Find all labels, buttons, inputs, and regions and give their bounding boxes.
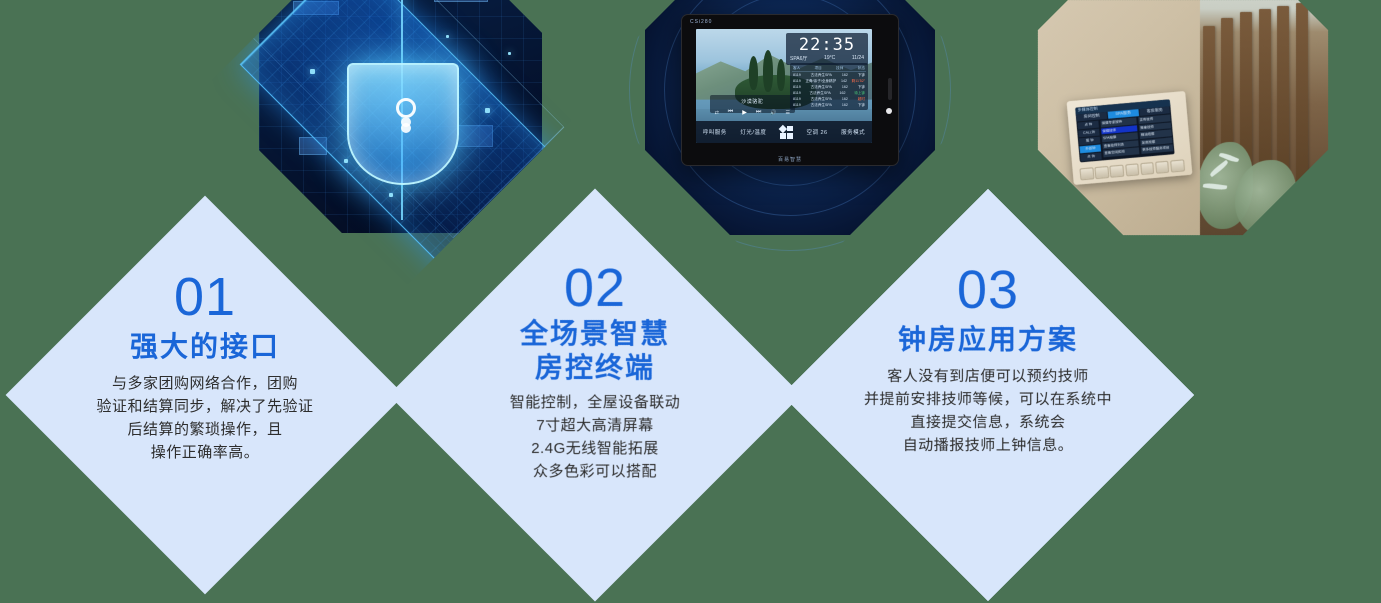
card-body-line: 智能控制，全屋设备联动 [510,391,681,414]
card-body-line: 众多色彩可以搭配 [510,460,681,483]
room-background [1195,0,1328,235]
card-title-3: 钟房应用方案 [898,323,1078,357]
card-body-line: 自动播报技师上钟信息。 [864,434,1112,457]
circuit-node [446,35,449,38]
card-number-1: 01 [174,268,236,326]
card-body-line: 2.4G无线智能拓展 [510,437,681,460]
volume-icon[interactable]: 🔊 [770,110,776,116]
tablet-side-button[interactable] [888,78,892,100]
panel-button[interactable] [1079,167,1094,181]
media-controls[interactable]: ⇄ ⏮ ▶ ⏭ 🔊 ☰ [710,109,794,116]
card-number-3: 03 [957,261,1019,319]
card-body-line: 操作正确率高。 [96,441,313,464]
service-list-header: 客人 项目 技师 状态 [792,65,866,72]
next-icon[interactable]: ⏭ [756,109,761,116]
card-body-line: 客人没有到店便可以预约技师 [864,365,1112,388]
col-item: 项目 [815,65,822,71]
wall-control-panel[interactable]: 多媒体控制 房间控制 SPA服务 客房服务 点 钟 CALL钟 圈 钟 外部钟 … [1066,91,1192,185]
wood-slat [1277,6,1289,180]
cell-status: 下钟 [858,102,865,108]
feature-card-2[interactable]: 02 全场景智慧 房控终端 智能控制，全屋设备联动 7寸超大高清屏幕 2.4G无… [389,189,802,602]
tablet-screen[interactable]: 沙漠骆驼 ⇄ ⏮ ▶ ⏭ 🔊 ☰ 22:35 SPA6 [696,29,872,143]
toolbar-service-mode[interactable]: 服务模式 [841,128,865,136]
wood-slat [1240,12,1252,169]
feature-card-3[interactable]: 03 钟房应用方案 客人没有到店便可以预约技师 并提前安排技师等候，可以在系统中… [782,189,1195,602]
circuit-node [389,193,393,197]
card-body-line: 后结算的繁琐操作，且 [96,418,313,441]
wood-slat [1296,3,1308,183]
panel-button[interactable] [1170,159,1185,173]
panel-side-menu[interactable]: 点 钟 CALL钟 圈 钟 外部钟 点 钟 [1077,119,1103,162]
tree-shape [777,59,785,91]
card-body-line: 与多家团购网络合作，团购 [96,372,313,395]
media-player-bar[interactable]: 沙漠骆驼 ⇄ ⏮ ▶ ⏭ 🔊 ☰ [710,95,794,113]
apps-grid-icon[interactable] [780,126,793,139]
media-title: 沙漠骆驼 [710,95,794,105]
card-title-2: 全场景智慧 房控终端 [520,317,670,385]
card-body-line: 并提前安排技师等候，可以在系统中 [864,388,1112,411]
shield-lock-icon [347,63,459,185]
device-brand-label: CSi280 [690,19,712,25]
prev-icon[interactable]: ⏮ [728,109,733,116]
cell-tech: 162 [842,102,848,108]
clock-room: SPA6厅 [790,55,807,62]
panel-button[interactable] [1110,164,1125,178]
service-list[interactable]: 客人 项目 技师 状态 8119 古法养生SPA 162 下钟 8119 [790,63,868,110]
tree-shape [749,56,758,90]
card-title-line: 钟房应用方案 [898,323,1078,357]
card-body-line: 验证和结算同步，解决了先验证 [96,395,313,418]
circuit-node [310,69,315,74]
card-body-1: 与多家团购网络合作，团购 验证和结算同步，解决了先验证 后结算的繁琐操作，且 操… [96,372,313,464]
infographic-stage: 蓝色科技电路板上的全息盾牌锁图形 CSi280 [0,0,1381,603]
tree-shape [763,50,773,92]
tablet-camera-dot [886,108,892,114]
clock-date: 11/24 [852,55,864,62]
toolbar-light-temp[interactable]: 灯光/温度 [740,128,766,136]
col-tech: 技师 [836,65,843,71]
card-title-line: 全场景智慧 [520,317,670,351]
panel-menu-right-column[interactable]: 正骨技师 推拿技师 精油按摩 足底按摩 更多技师服务项目 [1137,113,1175,157]
col-guest: 客人 [793,65,800,71]
panel-menu-left-column[interactable]: 保健专家按钟 保健技师 SPA按摩 查看技师列表 查看空闲房间 [1099,116,1140,160]
cell-item: 古法养生SPA [811,102,832,108]
playlist-icon[interactable]: ☰ [786,110,790,116]
card-body-line: 7寸超大高清屏幕 [510,414,681,437]
tablet-footer-brand: 百易智慧 [682,156,898,163]
panel-button[interactable] [1155,160,1170,174]
circuit-node [344,159,348,163]
service-list-row[interactable]: 8119 古法养生SPA 162 下钟 [792,102,866,108]
col-status: 状态 [858,65,865,71]
card-title-1: 强大的接口 [130,330,280,364]
circuit-node [485,108,490,113]
clock-widget: 22:35 SPA6厅 19°C 11/24 [786,33,868,65]
screen-toolbar[interactable]: 呼叫服务 灯光/温度 空调 26 服务模式 [696,121,872,143]
panel-button[interactable] [1140,162,1155,176]
card-body-2: 智能控制，全屋设备联动 7寸超大高清屏幕 2.4G无线智能拓展 众多色彩可以搭配 [510,391,681,483]
toolbar-aircon[interactable]: 空调 26 [806,128,827,136]
play-icon[interactable]: ▶ [742,109,747,116]
toolbar-call-service[interactable]: 呼叫服务 [703,128,727,136]
shuffle-icon[interactable]: ⇄ [715,110,719,116]
room-control-tablet: CSi280 沙漠骆驼 ⇄ [681,14,899,166]
panel-screen[interactable]: 多媒体控制 房间控制 SPA服务 客房服务 点 钟 CALL钟 圈 钟 外部钟 … [1075,99,1175,163]
card-title-line: 房控终端 [520,351,670,385]
panel-side-item[interactable]: 点 钟 [1080,152,1101,161]
panel-button[interactable] [1095,165,1110,179]
chip-block [434,0,488,2]
clock-time: 22:35 [790,36,864,54]
wood-slat [1259,9,1271,174]
panel-button[interactable] [1125,163,1140,177]
circuit-node [508,52,511,55]
card-number-2: 02 [564,259,626,317]
wood-slat [1203,26,1215,159]
wood-slat [1221,17,1233,162]
card-body-3: 客人没有到店便可以预约技师 并提前安排技师等候，可以在系统中 直接提交信息，系统… [864,365,1112,457]
clock-temperature: 19°C [824,55,835,62]
card-title-line: 强大的接口 [130,330,280,364]
cell-guest: 8119 [793,102,801,108]
card-body-line: 直接提交信息，系统会 [864,411,1112,434]
feature-card-1[interactable]: 01 强大的接口 与多家团购网络合作，团购 验证和结算同步，解决了先验证 后结算… [6,196,405,595]
